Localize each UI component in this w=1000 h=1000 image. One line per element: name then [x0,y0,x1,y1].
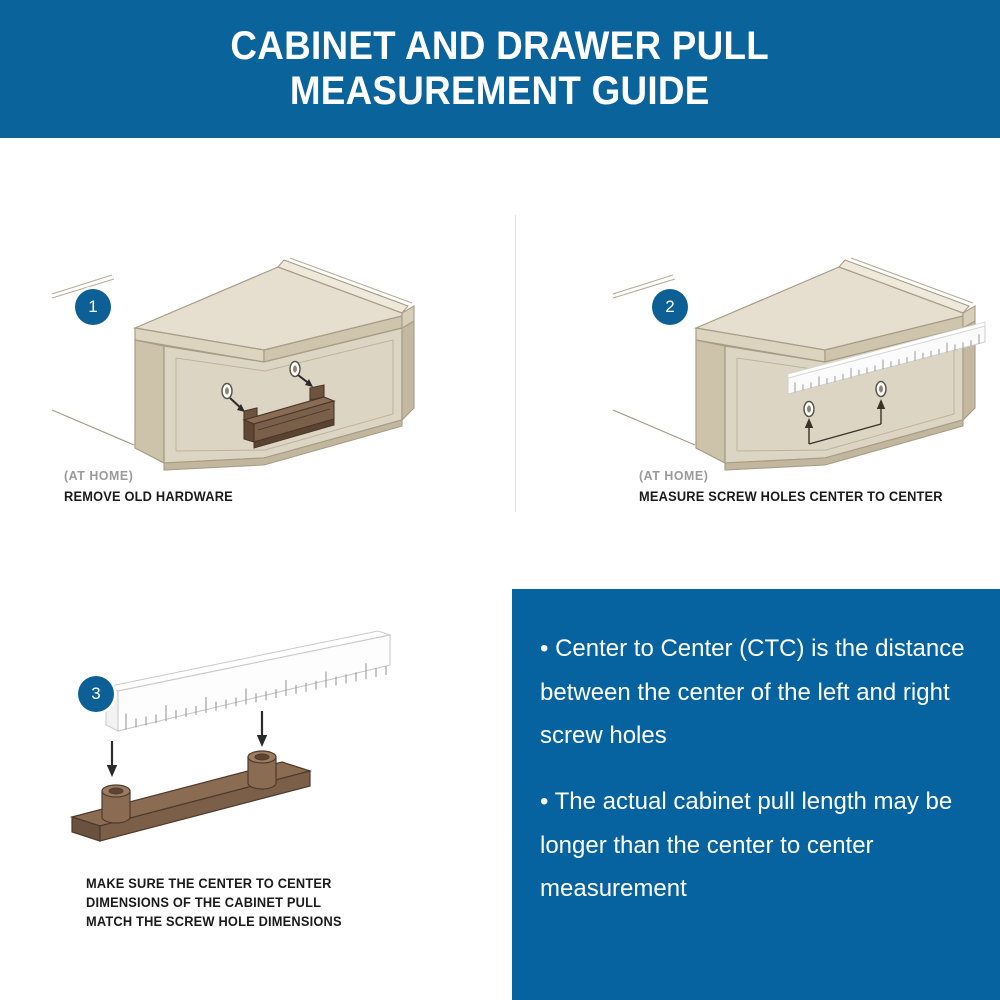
step-panel-2: (AT HOME) MEASURE SCREW HOLES CENTER TO … [513,138,1000,589]
step-3-caption-text: MAKE SURE THE CENTER TO CENTER DIMENSION… [86,874,342,931]
notes-panel: • Center to Center (CTC) is the distance… [512,589,1000,1000]
step-2-caption-text: MEASURE SCREW HOLES CENTER TO CENTER [639,487,943,506]
step-1-caption: (AT HOME) REMOVE OLD HARDWARE [64,468,242,506]
step-1-illustration [52,258,452,473]
step-1-eyebrow: (AT HOME) [64,468,233,483]
step-3-caption: MAKE SURE THE CENTER TO CENTER DIMENSION… [86,874,355,931]
step-3-illustration [60,629,420,864]
step-panel-3: MAKE SURE THE CENTER TO CENTER DIMENSION… [0,589,512,1000]
note-item: • Center to Center (CTC) is the distance… [540,627,970,758]
infographic-page: CABINET AND DRAWER PULL MEASUREMENT GUID… [0,0,1000,1000]
step-2-caption: (AT HOME) MEASURE SCREW HOLES CENTER TO … [639,468,959,506]
header-banner: CABINET AND DRAWER PULL MEASUREMENT GUID… [0,0,1000,138]
step-panel-1: (AT HOME) REMOVE OLD HARDWARE [0,138,512,589]
step-badge-2: 2 [652,289,688,325]
step-2-eyebrow: (AT HOME) [639,468,943,483]
note-item: • The actual cabinet pull length may be … [540,780,970,911]
step-1-caption-text: REMOVE OLD HARDWARE [64,487,233,506]
step-badge-1: 1 [75,289,111,325]
page-title: CABINET AND DRAWER PULL MEASUREMENT GUID… [176,24,825,114]
step-badge-3: 3 [78,676,114,712]
